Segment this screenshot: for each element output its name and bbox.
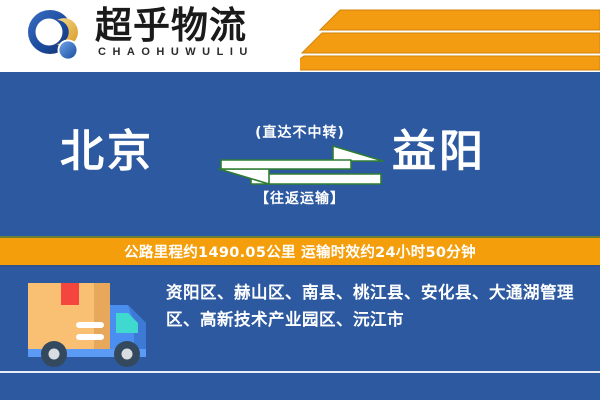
bidirectional-arrow-icon (215, 144, 387, 186)
brand-name-chinese: 超乎物流 (95, 6, 247, 46)
brand-name-english: CHAOHUWULIU (98, 46, 254, 58)
header: 超乎物流 CHAOHUWULIU (0, 0, 600, 72)
diagonal-stripes-decoration-icon (300, 0, 600, 72)
delivery-truck-icon (24, 277, 164, 373)
origin-city: 北京 (60, 126, 154, 178)
round-trip-note: 【往返运输】 (0, 188, 600, 208)
logistics-route-poster: 超乎物流 CHAOHUWULIU (直达不中转) 北京 益阳 【往返运输】 公路… (0, 0, 600, 400)
destination-city: 益阳 (392, 126, 486, 178)
distance-duration-text: 公路里程约1490.05公里 运输时效约24小时50分钟 (124, 241, 476, 262)
circle-crescent-logo-icon (26, 9, 80, 63)
bottom-divider (0, 371, 600, 373)
coverage-regions-text: 资阳区、赫山区、南县、桃江县、安化县、大通湖管理区、高新技术产业园区、沅江市 (166, 279, 582, 333)
distance-duration-bar: 公路里程约1490.05公里 运输时效约24小时50分钟 (0, 236, 600, 267)
